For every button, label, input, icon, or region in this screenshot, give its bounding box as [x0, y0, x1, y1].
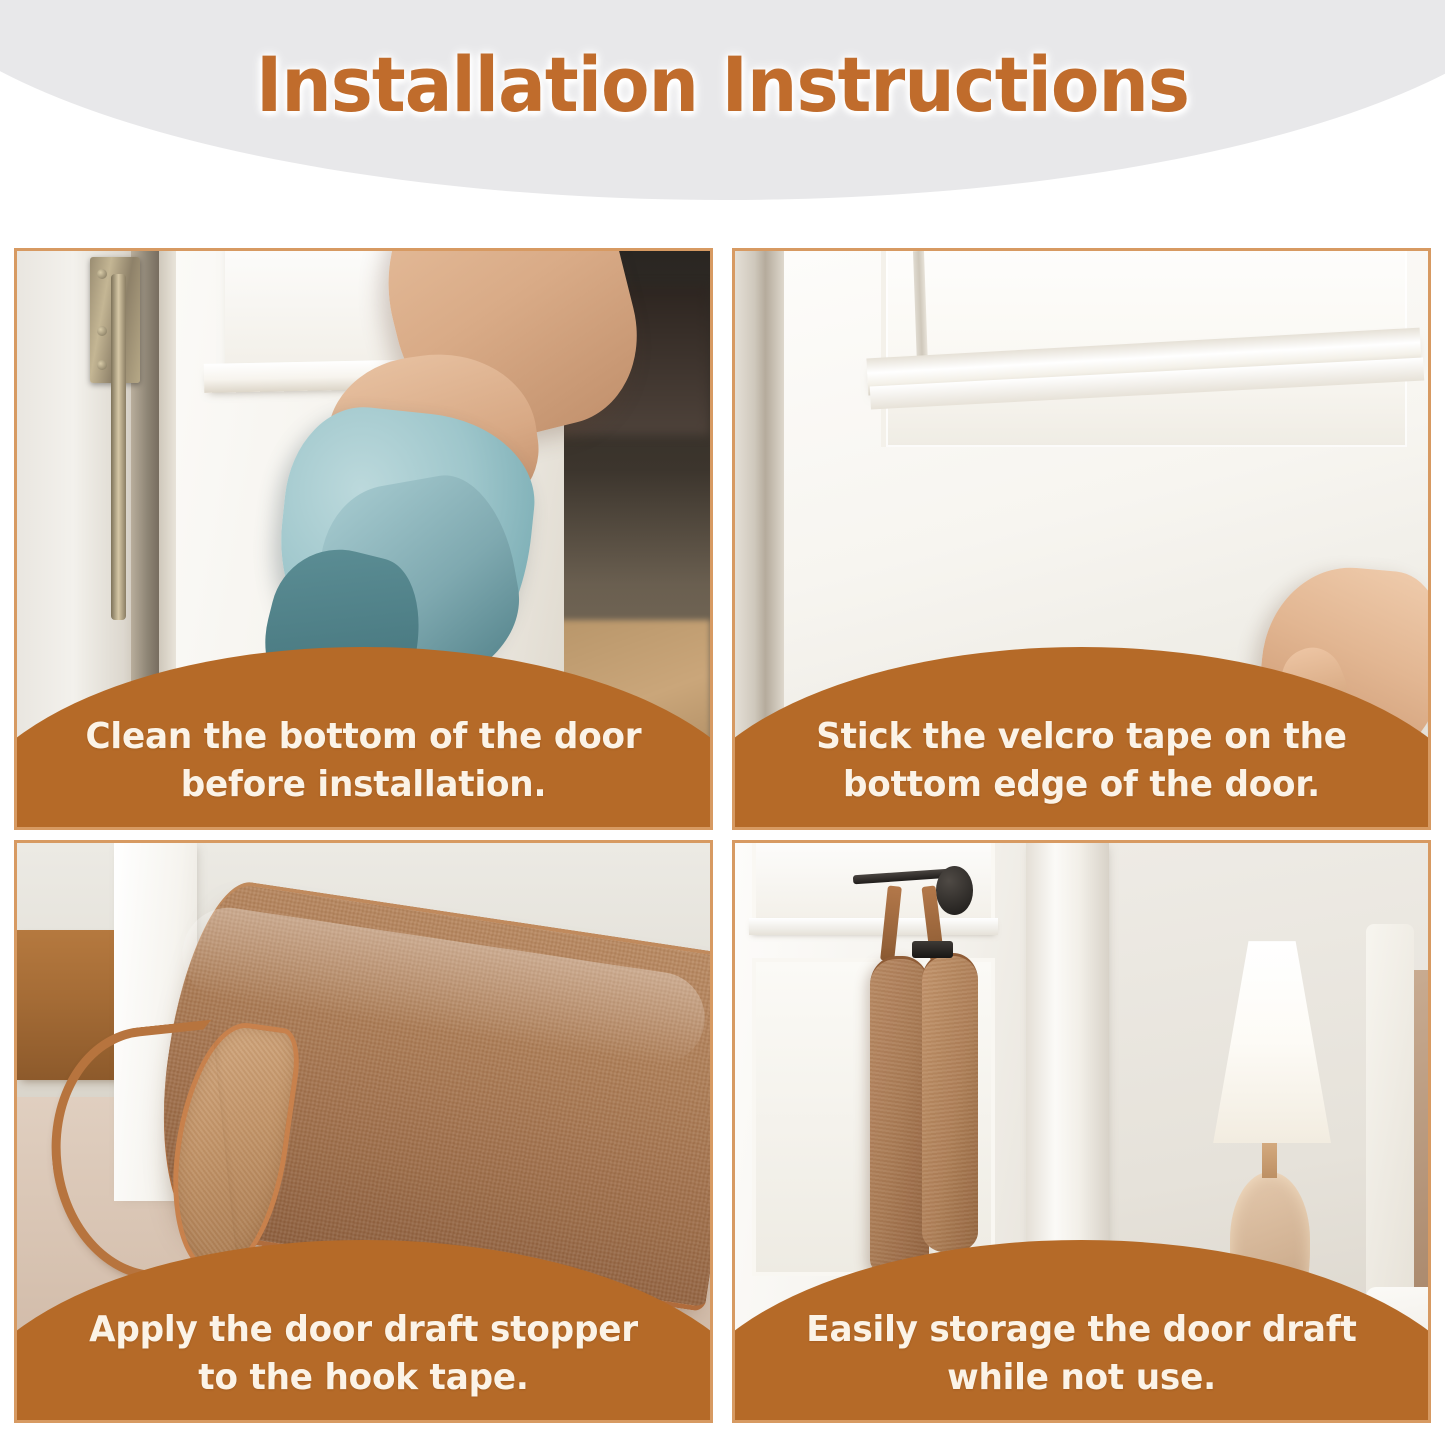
step-4-caption-line-1: Easily storage the door draft [777, 1306, 1386, 1354]
steps-grid: Clean the bottom of the door before inst… [14, 248, 1431, 1423]
step-3-caption-line-2: to the hook tape. [59, 1354, 668, 1402]
step-panel-1[interactable]: Clean the bottom of the door before inst… [14, 248, 713, 830]
step-1-caption-line-1: Clean the bottom of the door [59, 713, 668, 761]
step-4-caption: Easily storage the door draft while not … [752, 1306, 1410, 1402]
step-2-caption: Stick the velcro tape on the bottom edge… [752, 713, 1410, 809]
step-1-caption-line-2: before installation. [59, 761, 668, 809]
step-1-caption: Clean the bottom of the door before inst… [34, 713, 692, 809]
page-title: Installation Instructions [51, 44, 1395, 126]
infographic-page: Installation Instructions [0, 0, 1445, 1437]
step-panel-4[interactable]: Easily storage the door draft while not … [732, 840, 1431, 1423]
stored-draft-stopper [870, 956, 929, 1279]
step-3-caption: Apply the door draft stopper to the hook… [34, 1306, 692, 1402]
step-2-caption-line-2: bottom edge of the door. [777, 761, 1386, 809]
step-panel-2[interactable]: Stick the velcro tape on the bottom edge… [732, 248, 1431, 830]
step-panel-3[interactable]: Apply the door draft stopper to the hook… [14, 840, 713, 1423]
step-2-caption-line-1: Stick the velcro tape on the [777, 713, 1386, 761]
header: Installation Instructions [0, 0, 1445, 248]
step-4-caption-line-2: while not use. [777, 1354, 1386, 1402]
step-3-caption-line-1: Apply the door draft stopper [59, 1306, 668, 1354]
